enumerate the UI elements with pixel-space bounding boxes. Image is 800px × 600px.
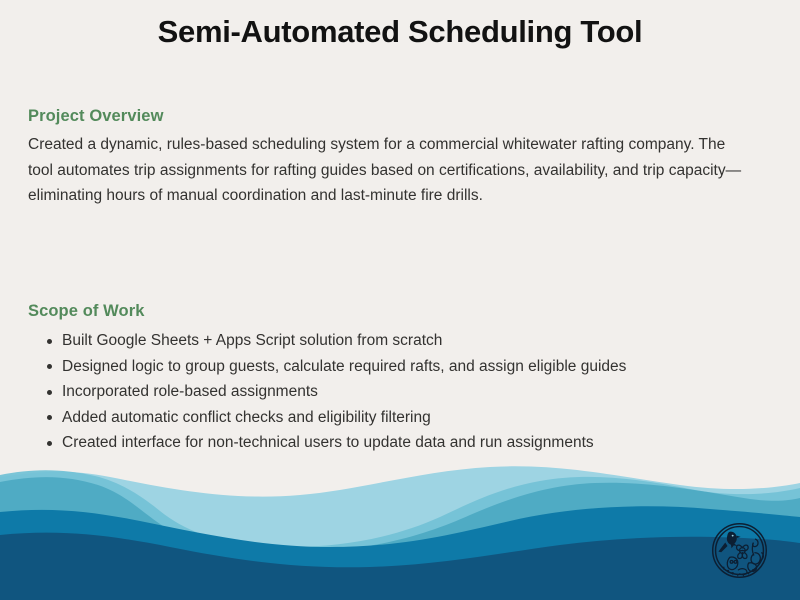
fern-stem xyxy=(752,543,753,555)
scope-of-work-list: Built Google Sheets + Apps Script soluti… xyxy=(28,328,744,456)
water-waves-graphic xyxy=(0,455,800,600)
bullet-icon xyxy=(47,364,52,369)
circular-nature-seal-logo xyxy=(711,522,768,579)
bird-eye xyxy=(732,535,734,537)
list-item-label: Incorporated role-based assignments xyxy=(62,383,318,400)
list-item: Created interface for non-technical user… xyxy=(28,430,744,456)
project-overview-paragraph: Created a dynamic, rules-based schedulin… xyxy=(28,132,742,209)
list-item: Added automatic conflict checks and elig… xyxy=(28,405,744,431)
bird-beak xyxy=(737,536,741,538)
bullet-icon xyxy=(47,441,52,446)
list-item-label: Built Google Sheets + Apps Script soluti… xyxy=(62,332,442,349)
list-item: Designed logic to group guests, calculat… xyxy=(28,354,744,380)
scope-of-work-section: Scope of Work Built Google Sheets + Apps… xyxy=(28,300,744,456)
owl-eye-left xyxy=(730,561,733,564)
slide-canvas: Semi-Automated Scheduling Tool Project O… xyxy=(0,0,800,600)
list-item: Incorporated role-based assignments xyxy=(28,379,744,405)
bird-tail xyxy=(718,543,727,553)
list-item-label: Created interface for non-technical user… xyxy=(62,434,594,451)
bullet-icon xyxy=(47,339,52,344)
list-item-label: Designed logic to group guests, calculat… xyxy=(62,358,626,375)
project-overview-section: Project Overview Created a dynamic, rule… xyxy=(28,105,744,209)
list-item: Built Google Sheets + Apps Script soluti… xyxy=(28,328,744,354)
owl-eye-right xyxy=(734,561,737,564)
bullet-icon xyxy=(47,415,52,420)
list-item-label: Added automatic conflict checks and elig… xyxy=(62,409,431,426)
scope-of-work-heading: Scope of Work xyxy=(28,300,744,322)
bird-icon xyxy=(727,532,737,549)
bullet-icon xyxy=(47,390,52,395)
page-title: Semi-Automated Scheduling Tool xyxy=(0,12,800,52)
project-overview-heading: Project Overview xyxy=(28,105,744,127)
